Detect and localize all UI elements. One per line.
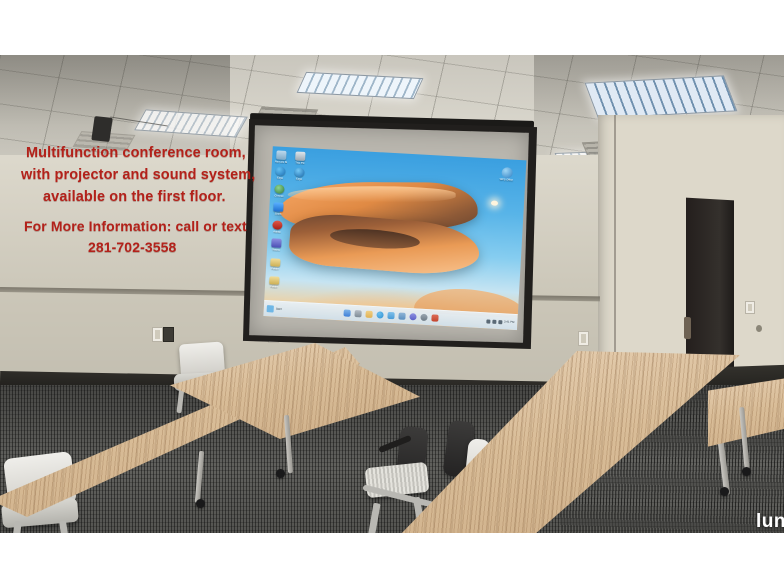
desktop-icon-label: Recycle Bin: [275, 160, 287, 164]
store-icon[interactable]: [398, 312, 405, 319]
adobe-icon: [272, 220, 282, 230]
settings-icon[interactable]: [420, 314, 427, 321]
desktop-icon-label: Teams: [270, 248, 282, 252]
mail-icon[interactable]: [387, 312, 394, 319]
desktop-icon-chrome[interactable]: Chrome: [273, 184, 286, 198]
volume-icon[interactable]: [492, 319, 496, 323]
chair-leg: [366, 503, 380, 533]
search-icon[interactable]: [354, 310, 361, 317]
room-photo: Recycle Bin Edge Chrome Zoom: [0, 55, 784, 533]
taskbar-system-tray[interactable]: 3:41 PM: [486, 319, 515, 325]
desktop-icon-label: Folder: [269, 267, 281, 271]
teams-icon: [271, 238, 281, 248]
table-caster: [276, 469, 285, 478]
wall-fixture: [756, 325, 762, 332]
teams-icon[interactable]: [409, 313, 416, 320]
ceiling-speaker: [91, 116, 112, 142]
wall-outlet: [152, 327, 163, 342]
desktop-icon-recycle-bin[interactable]: Recycle Bin: [275, 150, 288, 164]
table-caster: [720, 487, 729, 496]
table-caster: [742, 467, 751, 476]
projected-desktop: Recycle Bin Edge Chrome Zoom: [263, 146, 526, 330]
desktop-icon-label: Adobe: [271, 230, 283, 234]
desktop-icon-browser[interactable]: Edge: [293, 167, 306, 181]
desktop-icon-label: Edge: [274, 176, 286, 180]
desktop-icon-folder[interactable]: Folder: [269, 258, 282, 271]
desktop-icon-this-pc[interactable]: This PC: [294, 151, 307, 165]
zoom-icon: [273, 202, 283, 212]
desktop-icon-zoom[interactable]: Zoom: [272, 202, 285, 216]
wall-outlet: [578, 331, 589, 346]
this-pc-icon: [295, 151, 305, 161]
browser-icon: [294, 167, 304, 177]
desktop-icon-label: Folder: [268, 285, 280, 289]
screenshot-root: Recycle Bin Edge Chrome Zoom: [0, 0, 784, 588]
desktop-icon-label: Zoom: [272, 212, 284, 216]
desktop-icon-teams[interactable]: Teams: [270, 238, 283, 252]
chair-leg: [59, 521, 72, 533]
desktop-icon-edge[interactable]: Edge: [274, 166, 287, 180]
start-icon[interactable]: [267, 305, 274, 312]
folder-icon: [269, 276, 279, 285]
taskbar-pinned-apps[interactable]: [343, 309, 438, 321]
desktop-icon-wps-office[interactable]: WPS Office: [495, 167, 518, 182]
wallpaper-sun-glint: [491, 200, 498, 205]
table-caster: [196, 499, 205, 508]
folder-icon: [270, 258, 280, 267]
wall-outlet: [745, 301, 755, 314]
office-icon[interactable]: [431, 314, 438, 321]
battery-icon[interactable]: [498, 320, 502, 324]
taskbar-start-label: Start: [276, 308, 282, 311]
ceiling-light-panel: [585, 75, 738, 118]
screen-surface: Recycle Bin Edge Chrome Zoom: [249, 125, 529, 343]
projector-screen: Recycle Bin Edge Chrome Zoom: [246, 117, 534, 345]
door-handle[interactable]: [684, 317, 691, 339]
recycle-bin-icon: [276, 150, 286, 160]
network-icon[interactable]: [486, 319, 490, 323]
edge-icon[interactable]: [376, 311, 383, 318]
desktop-icon-folder[interactable]: Folder: [268, 276, 281, 289]
taskbar-clock[interactable]: 3:41 PM: [504, 320, 515, 324]
chrome-icon: [274, 184, 284, 194]
desktop-icon-adobe[interactable]: Adobe: [271, 220, 284, 234]
wall-outlet: [163, 327, 174, 342]
desktop-icon-label: Chrome: [273, 194, 285, 198]
explorer-icon[interactable]: [365, 311, 372, 318]
desktop-icon-label: Edge: [293, 177, 305, 181]
desktop-icon-label: WPS Office: [495, 178, 517, 182]
taskbar-start-group[interactable]: Start: [267, 305, 282, 313]
start-icon[interactable]: [343, 309, 350, 316]
desktop-icon-label: This PC: [294, 161, 306, 165]
wps-office-icon: [501, 167, 513, 179]
edge-icon: [275, 166, 285, 176]
